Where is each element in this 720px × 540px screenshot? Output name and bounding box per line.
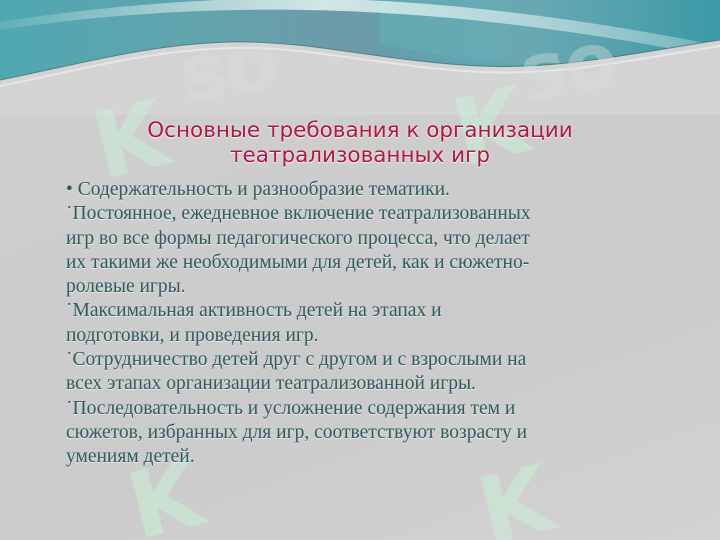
presentation-slide: KKKKsoso Основные требования к организац… <box>0 0 720 540</box>
bullet-line: ˙Максимальная активность детей на этапах… <box>66 299 666 323</box>
bullet-line: ролевые игры. <box>66 275 666 299</box>
bullet-line: всех этапах организации театрализованной… <box>66 372 666 396</box>
title-line-2: театрализованных игр <box>60 143 660 168</box>
bullet-line: • Содержательность и разнообразие темати… <box>66 178 666 202</box>
bullet-line: игр во все формы педагогического процесс… <box>66 227 666 251</box>
title-line-1: Основные требования к организации <box>60 118 660 143</box>
slide-content: Основные требования к организации театра… <box>0 0 720 540</box>
bullet-line: ˙Сотрудничество детей друг с другом и с … <box>66 348 666 372</box>
bullet-line: их такими же необходимыми для детей, как… <box>66 251 666 275</box>
bullet-line: сюжетов, избранных для игр, соответствую… <box>66 421 666 445</box>
slide-bullet-list: • Содержательность и разнообразие темати… <box>66 178 666 470</box>
bullet-line: умениям детей. <box>66 445 666 469</box>
bullet-line: подготовки, и проведения игр. <box>66 324 666 348</box>
bullet-line: ˙Постоянное, ежедневное включение театра… <box>66 202 666 226</box>
slide-title: Основные требования к организации театра… <box>60 118 660 168</box>
bullet-line: ˙Последовательность и усложнение содержа… <box>66 397 666 421</box>
